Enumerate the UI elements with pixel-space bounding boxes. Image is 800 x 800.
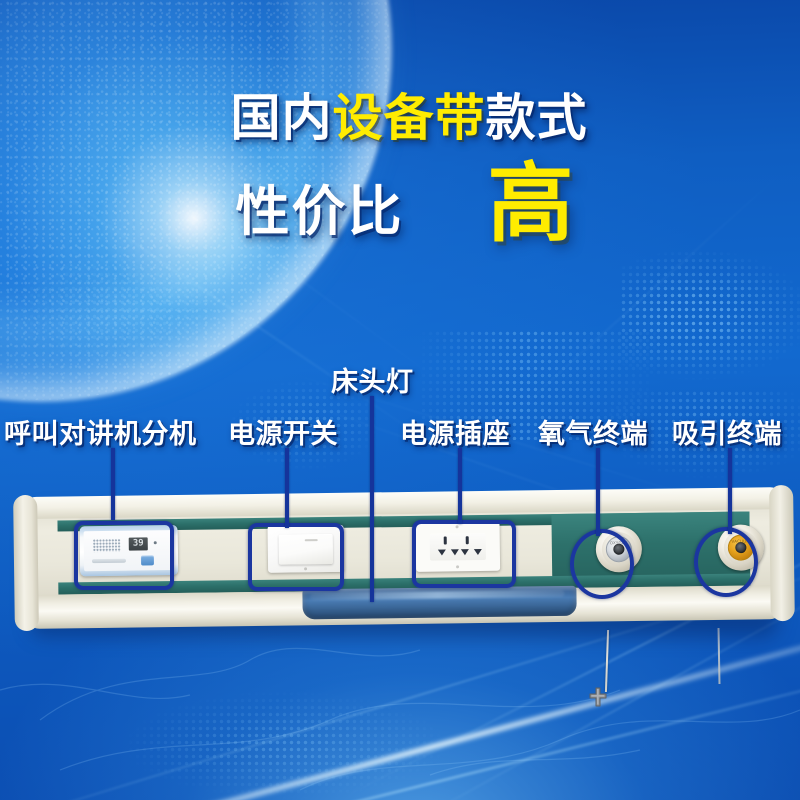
headline-subtext: 性价比 — [236, 167, 404, 246]
callout-label-suction-terminal: 吸引终端 — [672, 412, 782, 451]
headline-seg-1: 国内 — [231, 78, 333, 150]
callout-leader-suction-terminal — [728, 448, 732, 534]
callout-label-nurse-call-intercom: 呼叫对讲机分机 — [4, 412, 197, 451]
callout-leader-nurse-call-intercom — [111, 448, 115, 520]
headline-line-2: 性价比 高 — [0, 164, 800, 246]
callout-leader-power-socket — [458, 448, 462, 524]
callout-label-bedside-lamp: 床头灯 — [331, 360, 414, 399]
headline-emphasis-word: 高 — [488, 164, 575, 246]
callout-label-oxygen-terminal: 氧气终端 — [538, 412, 648, 451]
callout-label-power-socket: 电源插座 — [400, 412, 510, 451]
headline-seg-3: 款式 — [486, 78, 588, 150]
callout-leader-bedside-lamp — [370, 396, 374, 602]
headline-line-1: 国内 设备带 款式 — [0, 78, 800, 150]
callout-label-power-switch: 电源开关 — [228, 412, 338, 451]
banner-canvas: 国内 设备带 款式 性价比 高 呼叫对讲机分机 电源开关 床头灯 电源插座 氧气… — [0, 0, 800, 800]
headline-seg-2-accent: 设备带 — [333, 78, 486, 150]
callout-leader-oxygen-terminal — [596, 448, 600, 536]
headline-block: 国内 设备带 款式 性价比 高 — [0, 78, 800, 246]
callout-leader-power-switch — [285, 448, 289, 528]
